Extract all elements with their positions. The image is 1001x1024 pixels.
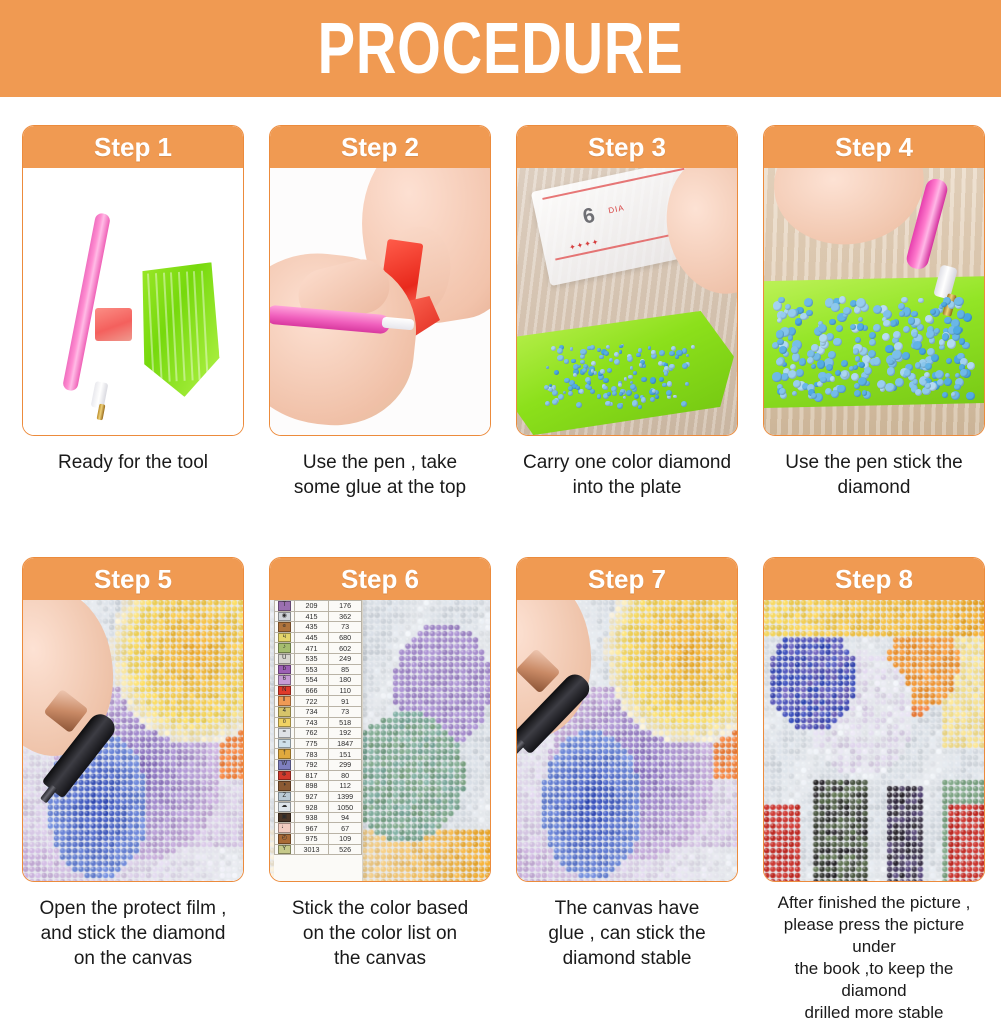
step-2-image — [270, 168, 490, 435]
color-count: 91 — [329, 696, 362, 707]
color-code: 928 — [294, 802, 329, 813]
color-list-row: ☁9281050 — [275, 802, 362, 813]
color-swatch: ❄ — [278, 771, 291, 781]
color-swatch: ≈ — [278, 739, 291, 749]
color-count: 180 — [329, 675, 362, 686]
color-count: 249 — [329, 653, 362, 664]
glue-clay-icon — [95, 308, 132, 341]
step-4-badge: Step 4 — [835, 134, 913, 160]
step-card-7[interactable]: Step 7 The canvas have glue , can stick … — [516, 557, 738, 971]
color-count: 110 — [329, 685, 362, 696]
color-count: 680 — [329, 632, 362, 643]
steps-grid: Step 1 — [0, 97, 1001, 1001]
color-list-table: T209176◉415362๏43573ч445680♪471602U53524… — [274, 600, 362, 855]
step-1-header: Step 1 — [23, 126, 243, 168]
step-card-1[interactable]: Step 1 — [22, 125, 244, 475]
step-4-caption: Use the pen stick the diamond — [763, 450, 985, 500]
color-list-row: ч445680 — [275, 632, 362, 643]
step-5-image — [23, 600, 243, 881]
steps-row-1: Step 1 — [0, 125, 1001, 555]
blue-diamonds-group — [517, 168, 737, 435]
pink-pen-icon — [62, 212, 111, 392]
color-swatch: ч — [278, 633, 291, 643]
step-5-caption: Open the protect film , and stick the di… — [22, 896, 244, 971]
color-count: 176 — [329, 601, 362, 612]
color-list-row: ¤743518 — [275, 717, 362, 728]
step-7-image — [517, 600, 737, 881]
step-3-caption: Carry one color diamond into the plate — [516, 450, 738, 500]
color-list-row: ๏43573 — [275, 622, 362, 633]
color-list-row: Y3013526 — [275, 844, 362, 855]
color-list-chart: T209176◉415362๏43573ч445680♪471602U53524… — [274, 600, 363, 881]
color-count: 80 — [329, 770, 362, 781]
tool-kit-illustration — [23, 168, 243, 435]
step-8-header: Step 8 — [764, 558, 984, 600]
step-5-badge: Step 5 — [94, 566, 172, 592]
color-swatch: N — [278, 686, 291, 696]
color-swatch: ♪ — [278, 643, 291, 653]
color-swatch: U — [278, 654, 291, 664]
step-8-caption: After finished the picture , please pres… — [763, 892, 985, 1024]
color-count: 518 — [329, 717, 362, 728]
color-swatch: 6 — [278, 675, 291, 685]
color-count: 112 — [329, 781, 362, 792]
step-5-header: Step 5 — [23, 558, 243, 600]
color-list-row: †783151 — [275, 749, 362, 760]
step-3-image: 6 DIA ✦✦✦✦ — [517, 168, 737, 435]
step-card-2[interactable]: Step 2 Use the pen , take some glu — [269, 125, 491, 500]
color-count: 1399 — [329, 791, 362, 802]
step-6-image: T209176◉415362๏43573ч445680♪471602U53524… — [270, 600, 490, 881]
color-list-row: ❄81780 — [275, 770, 362, 781]
pen-picking-diamond-photo — [764, 168, 984, 435]
color-code: 792 — [294, 759, 329, 770]
blue-diamonds-group — [764, 168, 984, 435]
color-list-row: ≈7751847 — [275, 738, 362, 749]
color-swatch: ¤ — [278, 718, 291, 728]
color-count: 85 — [329, 664, 362, 675]
color-code: 975 — [294, 834, 329, 845]
color-code: 3013 — [294, 844, 329, 855]
step-card-8[interactable]: Step 8 After finished the picture , plea… — [763, 557, 985, 1024]
hands-applying-glue-photo — [270, 168, 490, 435]
color-swatch: ◴ — [278, 834, 291, 844]
finished-painting-photo — [764, 600, 984, 881]
color-list-row: ‖72291 — [275, 696, 362, 707]
color-count: 67 — [329, 823, 362, 834]
color-list-row: ◑898112 — [275, 781, 362, 792]
color-list-row: ◴975109 — [275, 834, 362, 845]
color-code: 817 — [294, 770, 329, 781]
color-swatch: Z — [278, 792, 291, 802]
color-list-row: 473473 — [275, 706, 362, 717]
step-8-image — [764, 600, 984, 881]
color-code: 209 — [294, 601, 329, 612]
color-code: 783 — [294, 749, 329, 760]
color-list-row: ▣93894 — [275, 812, 362, 823]
color-code: 898 — [294, 781, 329, 792]
color-swatch: ◑ — [278, 781, 291, 791]
color-swatch: ‖ — [278, 696, 291, 706]
color-swatch: = — [278, 728, 291, 738]
color-code: 927 — [294, 791, 329, 802]
color-code: 666 — [294, 685, 329, 696]
color-count: 362 — [329, 611, 362, 622]
color-count: 73 — [329, 706, 362, 717]
color-code: 471 — [294, 643, 329, 654]
step-3-header: Step 3 — [517, 126, 737, 168]
color-code: 554 — [294, 675, 329, 686]
color-code: 415 — [294, 611, 329, 622]
color-list-row: Z9271399 — [275, 791, 362, 802]
step-2-badge: Step 2 — [341, 134, 419, 160]
color-list-row: ♪471602 — [275, 643, 362, 654]
color-swatch: W — [278, 760, 291, 770]
color-count: 73 — [329, 622, 362, 633]
color-swatch: † — [278, 749, 291, 759]
color-list-row: W792299 — [275, 759, 362, 770]
color-count: 192 — [329, 728, 362, 739]
color-swatch: Y — [278, 845, 291, 855]
step-1-caption: Ready for the tool — [22, 450, 244, 475]
color-list-row: b55385 — [275, 664, 362, 675]
color-count: 1050 — [329, 802, 362, 813]
color-swatch: ๏ — [278, 622, 291, 632]
step-7-badge: Step 7 — [588, 566, 666, 592]
color-code: 435 — [294, 622, 329, 633]
step-1-badge: Step 1 — [94, 134, 172, 160]
pour-diamonds-photo: 6 DIA ✦✦✦✦ — [517, 168, 737, 435]
color-code: 553 — [294, 664, 329, 675]
step-2-caption: Use the pen , take some glue at the top — [269, 450, 491, 500]
color-list-row: ◉415362 — [275, 611, 362, 622]
color-list-row: U535249 — [275, 653, 362, 664]
color-code: 743 — [294, 717, 329, 728]
color-list-row: =762192 — [275, 728, 362, 739]
color-list-row: ♩96767 — [275, 823, 362, 834]
step-card-4[interactable]: Step 4 Use the pen stick the diamond — [763, 125, 985, 500]
step-card-3[interactable]: Step 3 6 DIA ✦✦✦✦ — [516, 125, 738, 500]
color-code: 775 — [294, 738, 329, 749]
color-count: 602 — [329, 643, 362, 654]
color-swatch: ♩ — [278, 823, 291, 833]
color-code: 535 — [294, 653, 329, 664]
step-7-caption: The canvas have glue , can stick the dia… — [516, 896, 738, 971]
color-swatch: ◉ — [278, 612, 291, 622]
page-header-banner: PROCEDURE — [0, 0, 1001, 97]
color-count: 526 — [329, 844, 362, 855]
color-count: 1847 — [329, 738, 362, 749]
step-2-header: Step 2 — [270, 126, 490, 168]
color-swatch: ▣ — [278, 813, 291, 823]
step-7-header: Step 7 — [517, 558, 737, 600]
step-6-badge: Step 6 — [341, 566, 419, 592]
color-count: 299 — [329, 759, 362, 770]
step-3-badge: Step 3 — [588, 134, 666, 160]
steps-row-2: Step 5 Open the protect film , and stick… — [0, 557, 1001, 1001]
color-code: 762 — [294, 728, 329, 739]
color-swatch: ☁ — [278, 802, 291, 812]
color-swatch: 4 — [278, 707, 291, 717]
color-count: 94 — [329, 812, 362, 823]
color-code: 734 — [294, 706, 329, 717]
step-6-caption: Stick the color based on the color list … — [269, 896, 491, 971]
step-6-header: Step 6 — [270, 558, 490, 600]
color-code: 938 — [294, 812, 329, 823]
step-4-header: Step 4 — [764, 126, 984, 168]
color-code: 967 — [294, 823, 329, 834]
color-count: 151 — [329, 749, 362, 760]
step-card-6[interactable]: Step 6 T209176◉415362๏43573ч445680♪47160… — [269, 557, 491, 971]
green-tray-icon — [138, 262, 222, 399]
color-list-row: N666110 — [275, 685, 362, 696]
step-card-5[interactable]: Step 5 Open the protect film , and stick… — [22, 557, 244, 971]
color-code: 445 — [294, 632, 329, 643]
step-8-badge: Step 8 — [835, 566, 913, 592]
page-title: PROCEDURE — [318, 13, 684, 85]
color-list-row: 6554180 — [275, 675, 362, 686]
step-1-image — [23, 168, 243, 435]
color-swatch: T — [278, 601, 291, 611]
color-code: 722 — [294, 696, 329, 707]
step-4-image — [764, 168, 984, 435]
color-swatch: b — [278, 665, 291, 675]
color-list-row: T209176 — [275, 601, 362, 612]
color-count: 109 — [329, 834, 362, 845]
